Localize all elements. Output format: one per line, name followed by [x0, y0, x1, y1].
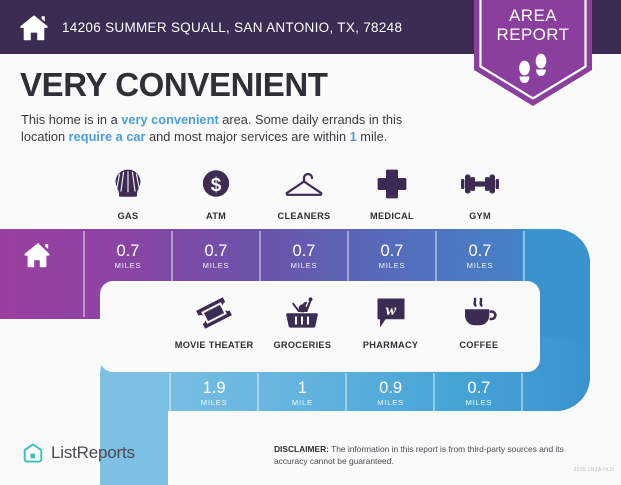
category-label: CLEANERS: [278, 211, 331, 221]
distance-unit: MILES: [465, 398, 492, 407]
distance-value: 0.9: [379, 380, 402, 397]
category-coffee: COFFEE: [435, 292, 523, 350]
desc-part-1: This home is in a: [21, 112, 121, 127]
category-atm: $ ATM: [172, 163, 260, 221]
distance-value: 0.7: [469, 243, 492, 260]
distance-groceries: 1 MILE: [258, 371, 346, 415]
distance-unit: MILES: [203, 261, 230, 270]
distance-cleaners: 0.7 MILES: [260, 234, 348, 278]
medical-cross-icon: [376, 163, 408, 205]
distance-value: 0.7: [205, 243, 228, 260]
distance-unit: MILES: [379, 261, 406, 270]
category-medical: MEDICAL: [348, 163, 436, 221]
row1-icons: GAS $ ATM CLEANERS: [84, 163, 524, 221]
svg-text:w: w: [385, 302, 396, 319]
category-label: MEDICAL: [370, 211, 414, 221]
area-report-badge: AREA REPORT: [474, 0, 592, 106]
distance-value: 1.9: [203, 380, 226, 397]
category-pharmacy: w PHARMACY: [347, 292, 435, 350]
desc-part-3: and most major services are within: [146, 129, 350, 144]
distance-unit: MILES: [201, 398, 228, 407]
distance-unit: MILES: [467, 261, 494, 270]
distance-atm: 0.7 MILES: [172, 234, 260, 278]
svg-text:$: $: [211, 175, 222, 196]
area-report-infographic: 14206 SUMMER SQUALL, SAN ANTONIO, TX, 78…: [0, 0, 621, 480]
disclaimer: DISCLAIMER: The information in this repo…: [274, 444, 592, 467]
category-label: ATM: [206, 211, 226, 221]
distance-gym: 0.7 MILES: [436, 234, 524, 278]
category-gym: GYM: [436, 163, 524, 221]
distance-unit: MILES: [115, 261, 142, 270]
distance-value: 0.7: [381, 243, 404, 260]
category-label: PHARMACY: [363, 340, 418, 350]
distance-value: 0.7: [467, 380, 490, 397]
grocery-basket-icon: [284, 292, 320, 334]
desc-part-4: mile.: [357, 129, 388, 144]
home-marker-icon: [22, 240, 54, 270]
category-gas: GAS: [84, 163, 172, 221]
distance-pharmacy: 0.9 MILES: [347, 371, 435, 415]
row1-distances: 0.7 MILES 0.7 MILES 0.7 MILES 0.7 MILES …: [84, 234, 524, 278]
row2-distances: 1.9 MILES 1 MILE 0.9 MILES 0.7 MILES: [170, 371, 523, 415]
distance-unit: MILES: [377, 398, 404, 407]
distance-medical: 0.7 MILES: [348, 234, 436, 278]
desc-highlight-2: require a car: [69, 129, 146, 144]
category-groceries: GROCERIES: [258, 292, 346, 350]
category-movie-theater: MOVIE THEATER: [170, 292, 258, 350]
copyright-text: 2025 LRZA HLD: [574, 467, 614, 473]
shell-gas-icon: [111, 163, 145, 205]
clothes-hanger-icon: [284, 163, 324, 205]
category-label: GYM: [469, 211, 491, 221]
row2-icons: MOVIE THEATER: [170, 292, 523, 350]
category-cleaners: CLEANERS: [260, 163, 348, 221]
category-label: COFFEE: [459, 340, 498, 350]
walgreens-w-icon: w: [374, 292, 408, 334]
category-label: GAS: [118, 211, 139, 221]
dollar-circle-icon: $: [199, 163, 233, 205]
distance-movie-theater: 1.9 MILES: [170, 371, 258, 415]
coffee-cup-icon: [460, 292, 498, 334]
distance-coffee: 0.7 MILES: [435, 371, 523, 415]
property-address: 14206 SUMMER SQUALL, SAN ANTONIO, TX, 78…: [62, 20, 402, 35]
dumbbell-icon: [460, 163, 500, 205]
home-icon: [17, 10, 51, 44]
listreports-house-icon: [22, 442, 44, 464]
category-label: GROCERIES: [273, 340, 331, 350]
listreports-logo: ListReports: [22, 442, 135, 464]
desc-highlight-1: very convenient: [121, 112, 218, 127]
distance-gas: 0.7 MILES: [84, 234, 172, 278]
distance-value: 1: [298, 380, 307, 397]
disclaimer-label: DISCLAIMER:: [274, 444, 329, 454]
page-title: VERY CONVENIENT: [20, 66, 328, 104]
description-text: This home is in a very convenient area. …: [21, 112, 446, 145]
movie-ticket-icon: [195, 292, 233, 334]
logo-text: ListReports: [51, 443, 135, 463]
distance-unit: MILES: [291, 261, 318, 270]
category-label: MOVIE THEATER: [175, 340, 254, 350]
distance-value: 0.7: [293, 243, 316, 260]
distance-unit: MILE: [292, 398, 313, 407]
distance-value: 0.7: [117, 243, 140, 260]
desc-highlight-3: 1: [350, 129, 357, 144]
